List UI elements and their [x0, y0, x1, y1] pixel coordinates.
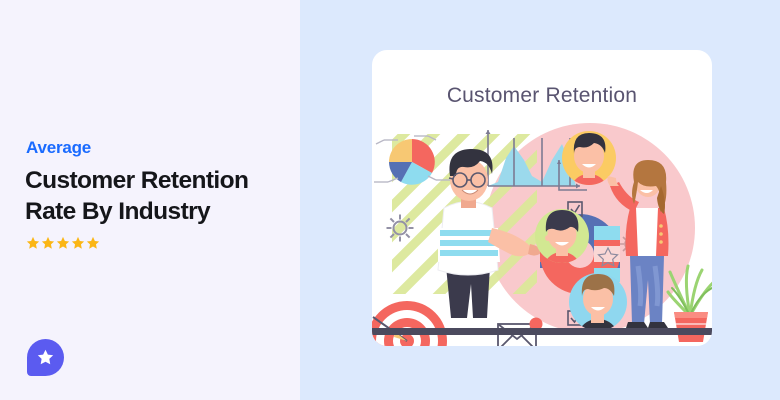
star-icon [41, 236, 55, 250]
page-root: Average Customer Retention Rate By Indus… [0, 0, 780, 400]
star-badge-icon [36, 348, 55, 367]
brand-logo[interactable] [27, 339, 64, 376]
avatar-circle-blue [569, 273, 627, 346]
star-icon [26, 236, 40, 250]
headline-line-1: Customer Retention [25, 167, 248, 194]
headline-line-2: Rate By Industry [25, 198, 210, 225]
illustration-card: Customer Retention [372, 50, 712, 346]
eyebrow-label: Average [26, 138, 91, 158]
star-icon [71, 236, 85, 250]
target-icon [372, 301, 447, 346]
floor-line [372, 328, 712, 335]
page-title: Customer Retention Rate By Industry [25, 165, 297, 227]
star-icon [86, 236, 100, 250]
card-title: Customer Retention [372, 84, 712, 108]
customer-retention-illustration [372, 116, 712, 346]
star-icon [56, 236, 70, 250]
rating-stars [26, 236, 100, 250]
